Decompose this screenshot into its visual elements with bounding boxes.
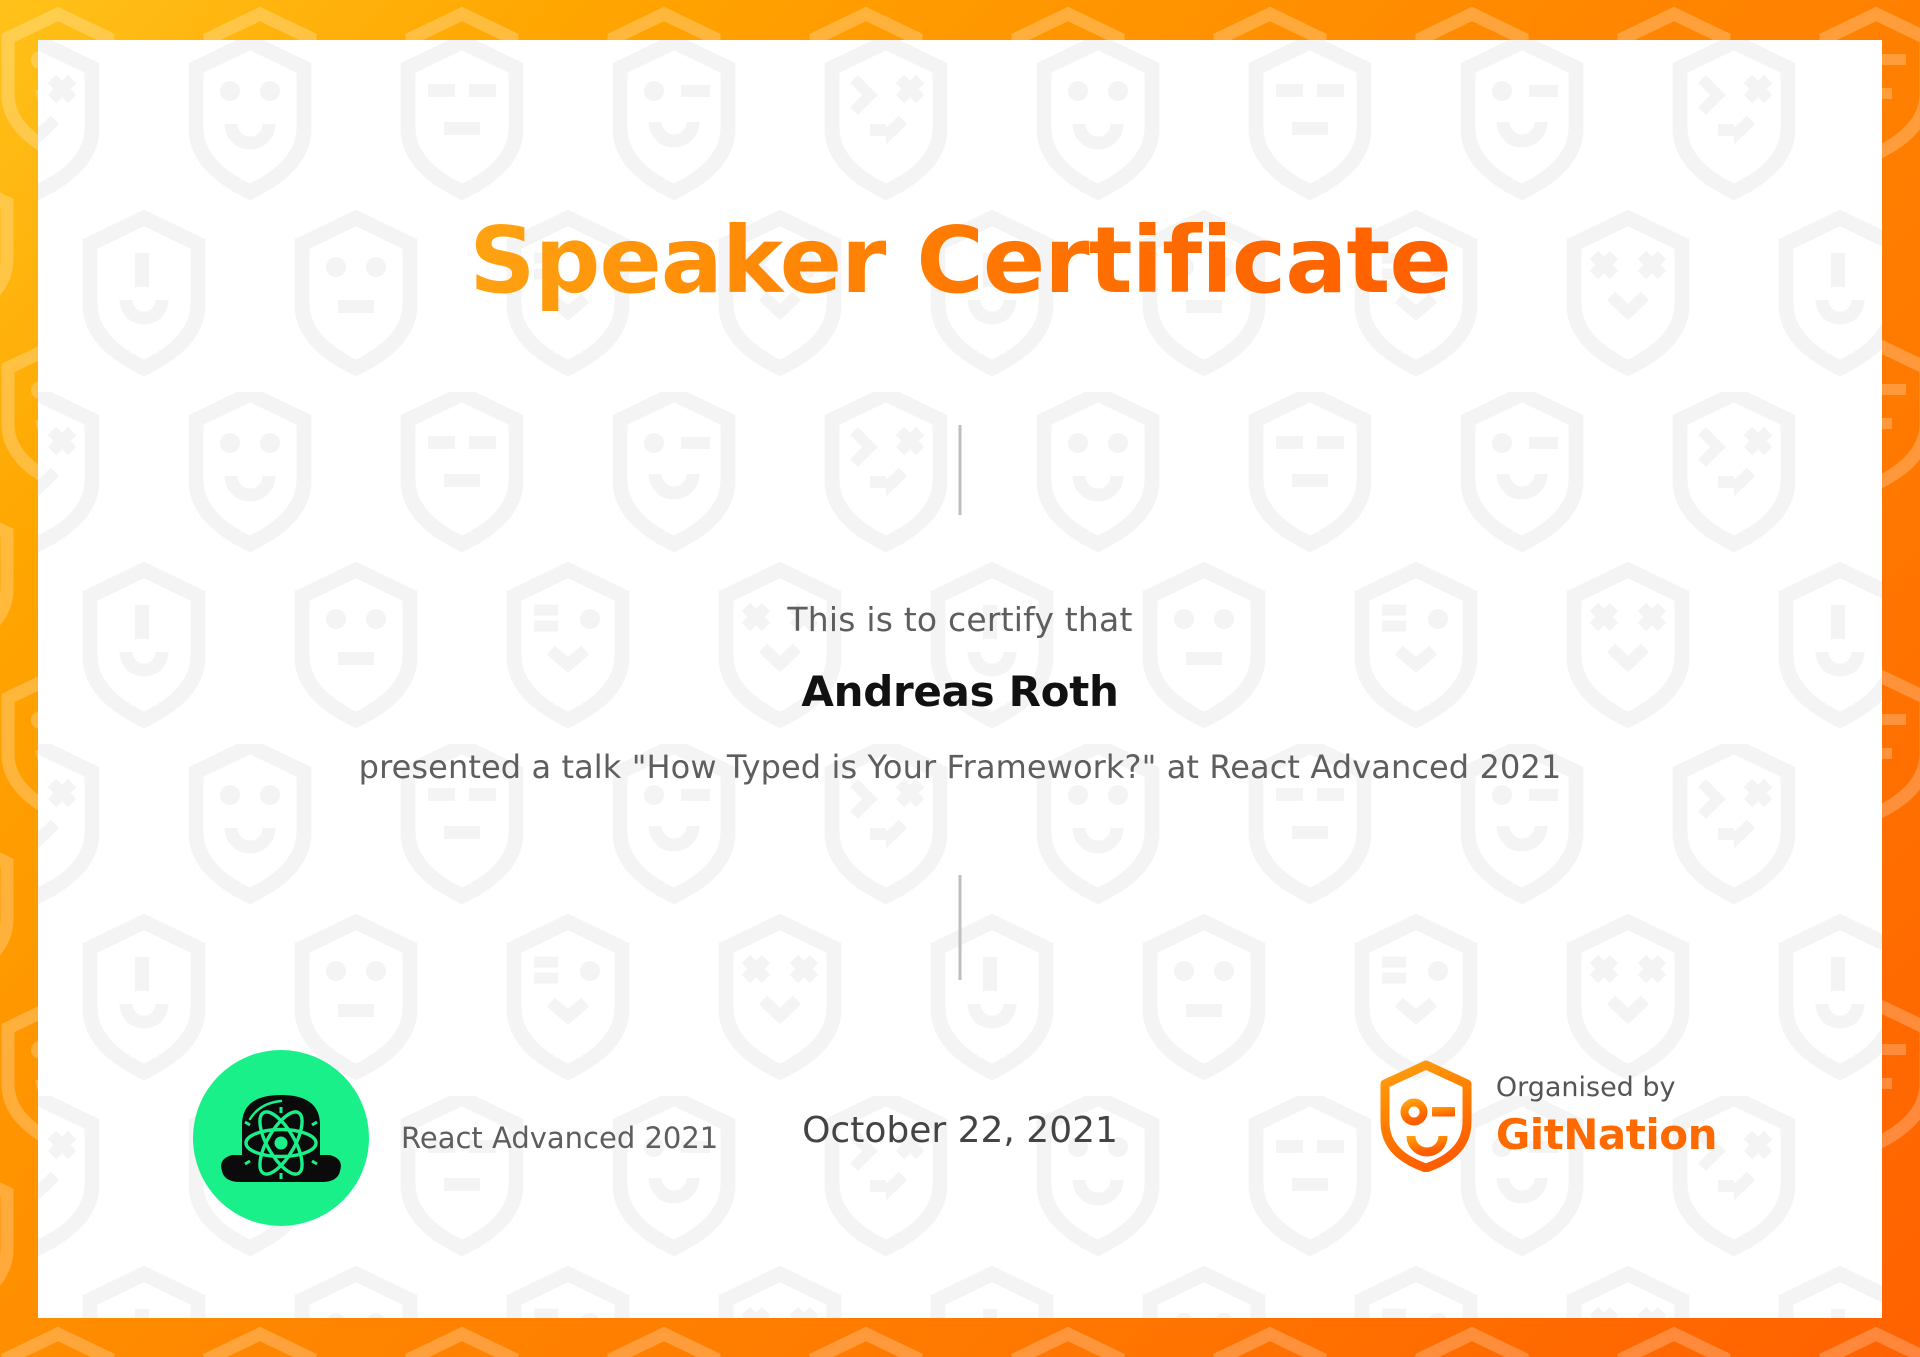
- certificate-footer: React Advanced 2021 October 22, 2021: [38, 1040, 1882, 1230]
- organiser-block: Organised by GitNation: [1378, 1060, 1717, 1172]
- organiser-text: Organised by GitNation: [1496, 1071, 1717, 1161]
- certificate-card: Speaker Certificate This is to certify t…: [38, 40, 1882, 1318]
- page-title-wrap: Speaker Certificate: [38, 210, 1882, 311]
- divider-bottom: [959, 875, 962, 980]
- certificate-page: Speaker Certificate This is to certify t…: [0, 0, 1920, 1357]
- organiser-name: GitNation: [1496, 1109, 1717, 1162]
- certificate-body: This is to certify that Andreas Roth pre…: [38, 600, 1882, 786]
- talk-description-line: presented a talk "How Typed is Your Fram…: [38, 748, 1882, 786]
- bowler-hat-atom-icon: [206, 1063, 356, 1213]
- certificate-date: October 22, 2021: [802, 1110, 1118, 1151]
- organised-by-label: Organised by: [1496, 1071, 1717, 1105]
- react-advanced-logo: [193, 1050, 369, 1226]
- divider-top: [959, 425, 962, 515]
- event-block: React Advanced 2021: [193, 1050, 718, 1226]
- event-name-label: React Advanced 2021: [401, 1121, 718, 1155]
- recipient-name: Andreas Roth: [38, 667, 1882, 716]
- page-title: Speaker Certificate: [469, 210, 1450, 311]
- certify-line: This is to certify that: [38, 600, 1882, 639]
- gitnation-shield-icon: [1378, 1060, 1474, 1172]
